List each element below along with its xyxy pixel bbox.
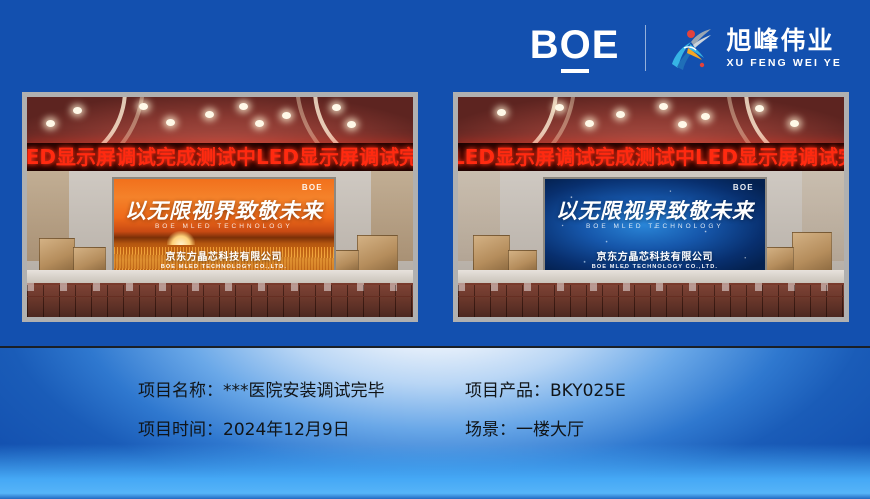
ceiling-arc-right xyxy=(313,97,413,143)
screen-slogan-cn: 以无限视界致敬未来 xyxy=(114,201,334,222)
ceiling-downlight xyxy=(139,103,148,110)
logo-divider xyxy=(645,25,646,71)
partner-name-en: XU FENG WEI YE xyxy=(726,56,842,70)
project-product-value: BKY025E xyxy=(550,381,626,401)
auditorium-sunset-screen-photo: LED显示屏调试完成测试中LED显示屏调试完成测试中LED显示屏调试完成测试中L… xyxy=(22,92,418,322)
led-video-wall-right: BOE 以无限视界致敬未来 BOE MLED TECHNOLOGY 京东方晶芯科… xyxy=(543,177,767,282)
seat-row xyxy=(27,285,413,296)
boe-logo-text: BOE xyxy=(530,24,620,66)
screen-company-en: BOE MLED TECHNOLOGY CO.,LTD. xyxy=(114,264,334,270)
led-ticker-text: 试完成测试中LED显示屏调试完成测试中LED显示屏调试完成测试中LED显示屏调试… xyxy=(458,147,844,167)
project-date-value: 2024年12月9日 xyxy=(223,420,350,440)
screen-company-en: BOE MLED TECHNOLOGY CO.,LTD. xyxy=(545,264,765,270)
photo-scene-left: LED显示屏调试完成测试中LED显示屏调试完成测试中LED显示屏调试完成测试中L… xyxy=(27,97,413,317)
seating-area xyxy=(458,283,844,317)
screen-boe-mark: BOE xyxy=(302,183,323,192)
boe-logo-underline xyxy=(561,69,589,73)
led-ticker-banner-right: 试完成测试中LED显示屏调试完成测试中LED显示屏调试完成测试中LED显示屏调试… xyxy=(458,143,844,171)
room-right: BOE 以无限视界致敬未来 BOE MLED TECHNOLOGY 京东方晶芯科… xyxy=(458,171,844,317)
info-grid: 项目名称：***医院安装调试完毕 项目时间：2024年12月9日 项目产品：BK… xyxy=(0,348,870,499)
xufeng-bird-icon xyxy=(668,24,714,72)
seat-row xyxy=(458,308,844,317)
boe-logo: BOE xyxy=(530,24,646,73)
ceiling-downlight xyxy=(332,104,341,111)
storage-box xyxy=(39,238,76,272)
partner-logo: 旭峰伟业 XU FENG WEI YE xyxy=(668,24,842,72)
project-name-value: ***医院安装调试完毕 xyxy=(223,381,385,401)
project-date-row: 项目时间：2024年12月9日 xyxy=(138,419,435,441)
ceiling-arc-left xyxy=(458,97,558,143)
photo-scene-right: 试完成测试中LED显示屏调试完成测试中LED显示屏调试完成测试中LED显示屏调试… xyxy=(458,97,844,317)
project-name-row: 项目名称：***医院安装调试完毕 xyxy=(138,380,435,402)
led-ticker-banner-left: LED显示屏调试完成测试中LED显示屏调试完成测试中LED显示屏调试完成测试中L… xyxy=(27,143,413,171)
storage-box xyxy=(73,247,106,272)
seat-row xyxy=(458,285,844,296)
seating-area xyxy=(27,283,413,317)
logo-group: BOE 旭峰伟业 XU FENG WEI Y xyxy=(530,20,842,76)
ceiling-arc-left xyxy=(27,97,127,143)
stage-platform xyxy=(458,270,844,283)
partner-text-block: 旭峰伟业 XU FENG WEI YE xyxy=(726,27,842,70)
screen-company-cn: 京东方晶芯科技有限公司 xyxy=(114,248,334,263)
project-date-label: 项目时间： xyxy=(138,420,223,440)
screen-slogan-en: BOE MLED TECHNOLOGY xyxy=(545,223,765,230)
ceiling-downlight xyxy=(255,120,264,127)
sun-graphic xyxy=(167,231,195,245)
project-product-label: 项目产品： xyxy=(465,381,550,401)
storage-box xyxy=(473,235,510,272)
project-info-panel: 项目名称：***医院安装调试完毕 项目时间：2024年12月9日 项目产品：BK… xyxy=(0,346,870,499)
storage-box xyxy=(792,232,833,272)
storage-box xyxy=(357,235,398,272)
info-column-right: 项目产品：BKY025E 场景：一楼大厅 xyxy=(435,380,870,441)
screen-slogan-en: BOE MLED TECHNOLOGY xyxy=(114,223,334,230)
header-bar: BOE 旭峰伟业 XU FENG WEI Y xyxy=(0,0,870,92)
room-left: BOE 以无限视界致敬未来 BOE MLED TECHNOLOGY 京东方晶芯科… xyxy=(27,171,413,317)
project-name-label: 项目名称： xyxy=(138,381,223,401)
screen-company-cn: 京东方晶芯科技有限公司 xyxy=(545,248,765,263)
partner-name-cn: 旭峰伟业 xyxy=(726,27,842,55)
scene-label: 场景： xyxy=(465,420,516,440)
storage-box xyxy=(765,247,794,272)
ceiling-downlight xyxy=(585,120,594,127)
led-ticker-text: LED显示屏调试完成测试中LED显示屏调试完成测试中LED显示屏调试完成测试中L… xyxy=(27,147,413,167)
screen-slogan-cn: 以无限视界致敬未来 xyxy=(545,201,765,222)
ceiling-downlight xyxy=(239,103,248,110)
ceiling-downlight xyxy=(616,111,625,118)
storage-box xyxy=(508,250,537,272)
ceiling-downlight xyxy=(166,119,175,126)
seat-row xyxy=(27,308,413,317)
ceiling-left xyxy=(27,97,413,143)
scene-row: 场景：一楼大厅 xyxy=(465,419,870,441)
auditorium-galaxy-screen-photo: 试完成测试中LED显示屏调试完成测试中LED显示屏调试完成测试中LED显示屏调试… xyxy=(453,92,849,322)
ceiling-downlight xyxy=(790,120,799,127)
ceiling-downlight xyxy=(678,121,687,128)
poster-canvas: BOE 旭峰伟业 XU FENG WEI Y xyxy=(0,0,870,499)
ceiling-downlight xyxy=(205,111,214,118)
ceiling-downlight xyxy=(659,103,668,110)
ceiling-downlight xyxy=(701,113,710,120)
ceiling-downlight xyxy=(555,104,564,111)
info-column-left: 项目名称：***医院安装调试完毕 项目时间：2024年12月9日 xyxy=(0,380,435,441)
led-video-wall-left: BOE 以无限视界致敬未来 BOE MLED TECHNOLOGY 京东方晶芯科… xyxy=(112,177,336,282)
ceiling-right xyxy=(458,97,844,143)
ceiling-downlight xyxy=(282,112,291,119)
stage-platform xyxy=(27,270,413,283)
scene-value: 一楼大厅 xyxy=(516,420,584,440)
seat-row xyxy=(458,297,844,308)
project-product-row: 项目产品：BKY025E xyxy=(465,380,870,402)
ceiling-downlight xyxy=(497,109,506,116)
seat-row xyxy=(27,297,413,308)
screen-boe-mark: BOE xyxy=(733,183,754,192)
